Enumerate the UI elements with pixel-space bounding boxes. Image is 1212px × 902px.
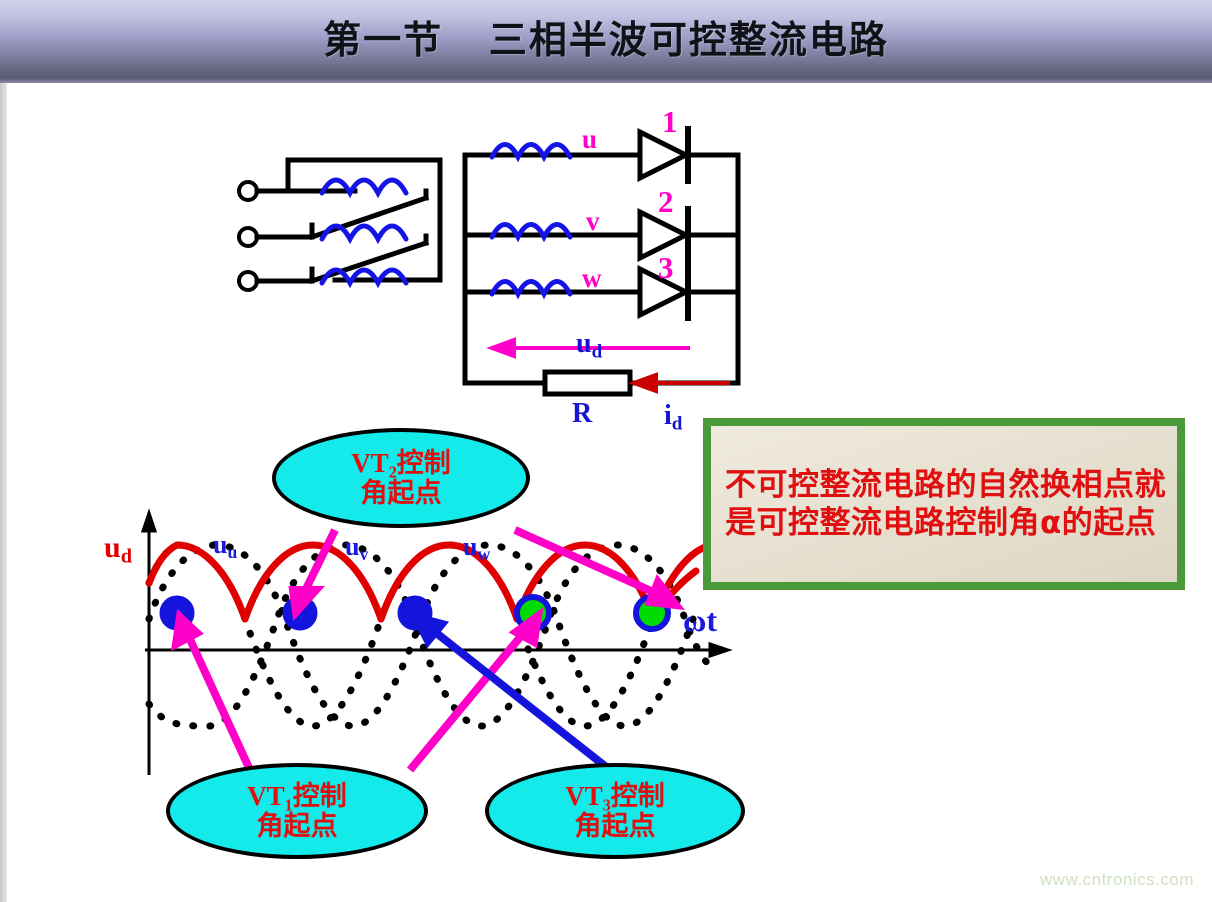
callout-bubble-vt2[interactable]: VT₂控制 角起点: [272, 428, 530, 528]
callout-vt3-line1: VT₃控制: [565, 781, 665, 811]
current-label: id: [664, 402, 682, 433]
watermark: www.cntronics.com: [1040, 870, 1194, 890]
phase-curve-label-w: uw: [463, 534, 490, 564]
callout-bubble-vt3[interactable]: VT₃控制 角起点: [485, 763, 745, 859]
phase-curve-label-u: uu: [213, 532, 237, 562]
thyristor-number-3: 3: [658, 252, 674, 283]
slide-root: 第一节 三相半波可控整流电路: [0, 0, 1212, 902]
callout-vt1-line2: 角起点: [257, 811, 338, 841]
callout-vt1-line1: VT₁控制: [247, 781, 347, 811]
circuit-diagram: [230, 100, 760, 430]
callout-vt3-line2: 角起点: [575, 811, 656, 841]
resistor-label: R: [572, 400, 592, 428]
phase-label-v: v: [586, 208, 600, 235]
thyristor-number-2: 2: [658, 186, 674, 217]
slide-left-edge-strip: [0, 83, 7, 902]
phase-label-u: u: [582, 126, 597, 153]
x-axis-label: ωt: [683, 604, 717, 636]
y-axis-label: ud: [104, 533, 132, 567]
phase-label-w: w: [582, 265, 602, 292]
callout-vt2-line2: 角起点: [361, 478, 442, 508]
callout-vt2-line1: VT₂控制: [351, 448, 451, 478]
title-bar-shadow: [0, 72, 1212, 83]
callout-bubble-vt1[interactable]: VT₁控制 角起点: [166, 763, 428, 859]
output-voltage-label: ud: [576, 330, 602, 361]
note-text: 不可控整流电路的自然换相点就是可控整流电路控制角α的起点: [725, 467, 1167, 543]
thyristor-number-1: 1: [662, 106, 678, 137]
page-title: 第一节 三相半波可控整流电路: [323, 9, 889, 64]
title-bar: 第一节 三相半波可控整流电路: [0, 0, 1212, 72]
note-box: 不可控整流电路的自然换相点就是可控整流电路控制角α的起点: [703, 418, 1185, 590]
phase-curve-label-v: uv: [345, 534, 368, 564]
note-box-inner: 不可控整流电路的自然换相点就是可控整流电路控制角α的起点: [711, 426, 1177, 582]
